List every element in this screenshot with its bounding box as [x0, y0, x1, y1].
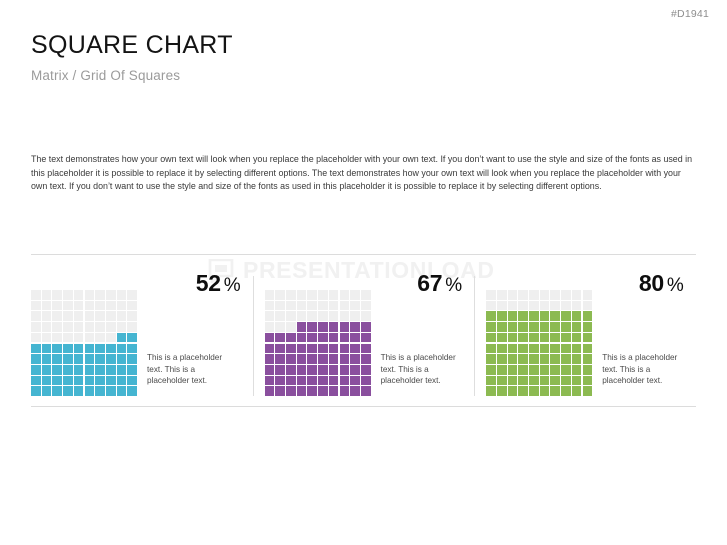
square-cell — [127, 344, 137, 354]
square-cell — [361, 386, 371, 396]
divider-top — [31, 254, 696, 255]
square-cell — [265, 344, 275, 354]
square-cell — [31, 322, 41, 332]
square-cell — [350, 290, 360, 300]
panel-text-column: 52% This is a placeholder text. This is … — [138, 276, 253, 396]
square-cell — [31, 290, 41, 300]
square-cell — [265, 311, 275, 321]
square-cell — [63, 365, 73, 375]
square-cell — [265, 301, 275, 311]
square-cell — [85, 354, 95, 364]
page-subtitle: Matrix / Grid Of Squares — [31, 68, 691, 83]
square-cell — [42, 290, 52, 300]
square-cell — [31, 333, 41, 343]
square-cell — [127, 333, 137, 343]
square-cell — [297, 333, 307, 343]
square-cell — [42, 322, 52, 332]
square-cell — [127, 354, 137, 364]
square-cell — [497, 301, 507, 311]
square-cell — [106, 376, 116, 386]
square-cell — [63, 344, 73, 354]
square-cell — [572, 344, 582, 354]
slide-header: SQUARE CHART Matrix / Grid Of Squares — [31, 32, 691, 83]
square-cell — [550, 386, 560, 396]
square-cell — [318, 354, 328, 364]
square-cell — [550, 311, 560, 321]
square-cell — [572, 322, 582, 332]
percentage-value: 80 — [639, 270, 664, 296]
square-cell — [42, 333, 52, 343]
square-cell — [297, 311, 307, 321]
square-cell — [265, 354, 275, 364]
square-cell — [286, 333, 296, 343]
square-cell — [508, 376, 518, 386]
square-chart-panel: 80% This is a placeholder text. This is … — [474, 276, 696, 396]
square-cell — [583, 365, 593, 375]
square-cell — [497, 333, 507, 343]
square-cell — [275, 290, 285, 300]
square-cell — [329, 386, 339, 396]
square-cell — [518, 354, 528, 364]
square-cell — [74, 365, 84, 375]
square-cell — [518, 365, 528, 375]
square-cell — [265, 322, 275, 332]
square-cell — [106, 386, 116, 396]
square-cell — [74, 376, 84, 386]
square-cell — [127, 301, 137, 311]
square-cell — [95, 376, 105, 386]
square-cell — [572, 365, 582, 375]
square-cell — [350, 344, 360, 354]
square-cell — [74, 290, 84, 300]
square-cell — [518, 301, 528, 311]
square-cell — [42, 344, 52, 354]
square-cell — [127, 322, 137, 332]
square-cell — [265, 290, 275, 300]
square-cell — [340, 354, 350, 364]
square-cell — [340, 365, 350, 375]
square-cell — [95, 344, 105, 354]
square-cell — [508, 344, 518, 354]
square-cell — [52, 322, 62, 332]
square-cell — [74, 354, 84, 364]
square-cell — [297, 386, 307, 396]
square-cell — [275, 301, 285, 311]
square-cell — [85, 386, 95, 396]
square-cell — [518, 333, 528, 343]
square-cell — [52, 365, 62, 375]
square-cell — [508, 301, 518, 311]
square-cell — [518, 290, 528, 300]
square-cell — [583, 376, 593, 386]
percentage-sign: % — [224, 275, 241, 296]
square-cell — [85, 344, 95, 354]
square-cell — [31, 365, 41, 375]
square-chart-panels: 52% This is a placeholder text. This is … — [31, 276, 696, 396]
square-cell — [350, 301, 360, 311]
square-cell — [486, 311, 496, 321]
square-cell — [95, 365, 105, 375]
square-cell — [106, 365, 116, 375]
square-cell — [329, 301, 339, 311]
square-cell — [361, 354, 371, 364]
panel-text-column: 80% This is a placeholder text. This is … — [593, 276, 696, 396]
square-cell — [329, 333, 339, 343]
square-cell — [106, 333, 116, 343]
square-cell — [117, 301, 127, 311]
square-cell — [117, 311, 127, 321]
square-cell — [63, 290, 73, 300]
square-cell — [561, 301, 571, 311]
square-cell — [572, 290, 582, 300]
square-cell — [497, 354, 507, 364]
square-cell — [52, 311, 62, 321]
square-cell — [361, 322, 371, 332]
square-cell — [508, 354, 518, 364]
square-cell — [52, 344, 62, 354]
square-grid[interactable] — [486, 290, 592, 396]
square-cell — [561, 322, 571, 332]
square-cell — [540, 354, 550, 364]
square-cell — [63, 386, 73, 396]
square-cell — [529, 386, 539, 396]
square-cell — [329, 311, 339, 321]
square-cell — [318, 386, 328, 396]
square-cell — [31, 354, 41, 364]
square-cell — [340, 322, 350, 332]
panel-note: This is a placeholder text. This is a pl… — [602, 352, 688, 387]
percentage-sign: % — [667, 275, 684, 296]
square-cell — [307, 344, 317, 354]
square-cell — [52, 376, 62, 386]
square-cell — [117, 290, 127, 300]
square-cell — [297, 344, 307, 354]
square-cell — [74, 344, 84, 354]
square-cell — [318, 290, 328, 300]
square-chart-panel: 52% This is a placeholder text. This is … — [31, 276, 253, 396]
square-cell — [307, 376, 317, 386]
square-cell — [318, 376, 328, 386]
square-cell — [42, 365, 52, 375]
square-cell — [561, 311, 571, 321]
square-cell — [340, 333, 350, 343]
square-cell — [286, 311, 296, 321]
square-cell — [275, 386, 285, 396]
square-cell — [583, 344, 593, 354]
square-cell — [318, 333, 328, 343]
square-cell — [486, 290, 496, 300]
square-cell — [361, 290, 371, 300]
square-cell — [486, 365, 496, 375]
square-grid[interactable] — [31, 290, 137, 396]
square-cell — [350, 376, 360, 386]
square-cell — [497, 311, 507, 321]
square-cell — [329, 365, 339, 375]
square-cell — [85, 290, 95, 300]
square-cell — [550, 365, 560, 375]
slide-id-label: #D1941 — [671, 8, 709, 20]
square-cell — [497, 344, 507, 354]
square-cell — [583, 386, 593, 396]
square-cell — [318, 322, 328, 332]
square-cell — [74, 333, 84, 343]
square-cell — [117, 386, 127, 396]
square-cell — [52, 354, 62, 364]
square-cell — [74, 386, 84, 396]
square-cell — [486, 333, 496, 343]
square-cell — [117, 333, 127, 343]
square-cell — [286, 301, 296, 311]
square-cell — [540, 301, 550, 311]
square-cell — [85, 365, 95, 375]
square-cell — [350, 311, 360, 321]
square-cell — [307, 301, 317, 311]
square-cell — [106, 322, 116, 332]
square-cell — [275, 354, 285, 364]
square-cell — [540, 365, 550, 375]
square-cell — [52, 301, 62, 311]
square-cell — [31, 301, 41, 311]
square-cell — [340, 311, 350, 321]
square-grid-wrap — [486, 276, 593, 396]
square-cell — [518, 322, 528, 332]
square-cell — [63, 354, 73, 364]
square-cell — [63, 376, 73, 386]
square-cell — [329, 344, 339, 354]
square-cell — [561, 386, 571, 396]
square-cell — [95, 333, 105, 343]
square-cell — [572, 354, 582, 364]
square-cell — [529, 311, 539, 321]
square-cell — [583, 333, 593, 343]
square-cell — [286, 290, 296, 300]
square-cell — [572, 386, 582, 396]
square-cell — [127, 311, 137, 321]
square-cell — [550, 344, 560, 354]
square-cell — [350, 333, 360, 343]
square-cell — [340, 376, 350, 386]
square-cell — [275, 376, 285, 386]
square-cell — [307, 290, 317, 300]
square-cell — [31, 376, 41, 386]
square-cell — [529, 290, 539, 300]
square-cell — [31, 386, 41, 396]
square-cell — [117, 322, 127, 332]
square-chart-panel: 67% This is a placeholder text. This is … — [253, 276, 475, 396]
square-cell — [572, 376, 582, 386]
square-cell — [52, 333, 62, 343]
square-cell — [74, 322, 84, 332]
square-cell — [561, 333, 571, 343]
square-cell — [583, 301, 593, 311]
square-cell — [340, 290, 350, 300]
square-cell — [572, 311, 582, 321]
square-cell — [529, 333, 539, 343]
page-title: SQUARE CHART — [31, 32, 691, 58]
square-cell — [286, 344, 296, 354]
square-cell — [74, 311, 84, 321]
square-cell — [297, 301, 307, 311]
square-cell — [550, 354, 560, 364]
square-cell — [52, 290, 62, 300]
square-cell — [127, 365, 137, 375]
square-cell — [561, 376, 571, 386]
square-cell — [529, 354, 539, 364]
square-cell — [508, 311, 518, 321]
square-cell — [95, 290, 105, 300]
square-cell — [297, 354, 307, 364]
panel-text-column: 67% This is a placeholder text. This is … — [372, 276, 475, 396]
square-cell — [85, 322, 95, 332]
square-cell — [572, 301, 582, 311]
square-cell — [307, 354, 317, 364]
square-cell — [583, 311, 593, 321]
square-cell — [329, 322, 339, 332]
square-cell — [486, 344, 496, 354]
square-cell — [561, 290, 571, 300]
square-cell — [117, 365, 127, 375]
square-cell — [518, 386, 528, 396]
percentage-value: 67 — [417, 270, 442, 296]
square-cell — [340, 344, 350, 354]
square-cell — [117, 354, 127, 364]
square-cell — [63, 333, 73, 343]
square-cell — [31, 311, 41, 321]
square-cell — [318, 365, 328, 375]
square-cell — [95, 322, 105, 332]
percentage-readout: 67% — [417, 272, 462, 295]
percentage-readout: 52% — [196, 272, 241, 295]
square-cell — [63, 311, 73, 321]
square-cell — [106, 311, 116, 321]
square-grid[interactable] — [265, 290, 371, 396]
square-cell — [265, 376, 275, 386]
square-cell — [286, 354, 296, 364]
square-cell — [297, 290, 307, 300]
square-cell — [74, 301, 84, 311]
square-cell — [127, 386, 137, 396]
square-cell — [127, 290, 137, 300]
square-cell — [318, 344, 328, 354]
square-cell — [117, 376, 127, 386]
square-cell — [497, 322, 507, 332]
square-cell — [42, 354, 52, 364]
square-cell — [318, 301, 328, 311]
square-cell — [275, 333, 285, 343]
square-cell — [550, 376, 560, 386]
percentage-readout: 80% — [639, 272, 684, 295]
square-cell — [95, 311, 105, 321]
square-cell — [42, 311, 52, 321]
square-cell — [486, 322, 496, 332]
square-cell — [265, 333, 275, 343]
square-cell — [486, 376, 496, 386]
square-cell — [63, 322, 73, 332]
panel-note: This is a placeholder text. This is a pl… — [147, 352, 233, 387]
square-cell — [42, 386, 52, 396]
square-cell — [361, 333, 371, 343]
square-cell — [529, 365, 539, 375]
square-cell — [265, 386, 275, 396]
square-cell — [361, 301, 371, 311]
square-cell — [540, 386, 550, 396]
square-cell — [297, 322, 307, 332]
square-cell — [540, 333, 550, 343]
square-cell — [329, 376, 339, 386]
square-cell — [583, 322, 593, 332]
square-cell — [561, 354, 571, 364]
square-cell — [318, 311, 328, 321]
square-cell — [550, 290, 560, 300]
square-cell — [117, 344, 127, 354]
panel-note: This is a placeholder text. This is a pl… — [381, 352, 467, 387]
square-cell — [583, 354, 593, 364]
square-cell — [265, 365, 275, 375]
square-cell — [127, 376, 137, 386]
square-cell — [561, 365, 571, 375]
square-cell — [106, 344, 116, 354]
divider-bottom — [31, 406, 696, 407]
square-cell — [286, 322, 296, 332]
square-cell — [529, 322, 539, 332]
square-cell — [275, 322, 285, 332]
square-cell — [286, 365, 296, 375]
square-cell — [307, 311, 317, 321]
square-cell — [508, 386, 518, 396]
square-cell — [350, 365, 360, 375]
square-cell — [540, 290, 550, 300]
square-cell — [275, 365, 285, 375]
square-cell — [518, 376, 528, 386]
square-cell — [508, 365, 518, 375]
square-cell — [31, 344, 41, 354]
square-cell — [42, 301, 52, 311]
square-cell — [529, 344, 539, 354]
square-cell — [497, 365, 507, 375]
square-cell — [518, 311, 528, 321]
square-cell — [85, 311, 95, 321]
square-cell — [350, 354, 360, 364]
square-cell — [95, 301, 105, 311]
square-cell — [497, 290, 507, 300]
square-cell — [307, 365, 317, 375]
square-cell — [508, 290, 518, 300]
square-cell — [95, 354, 105, 364]
square-cell — [486, 301, 496, 311]
square-cell — [550, 322, 560, 332]
square-cell — [350, 322, 360, 332]
square-cell — [486, 354, 496, 364]
square-cell — [486, 386, 496, 396]
square-cell — [572, 333, 582, 343]
square-grid-wrap — [265, 276, 372, 396]
square-cell — [307, 333, 317, 343]
square-cell — [106, 290, 116, 300]
square-cell — [529, 301, 539, 311]
square-cell — [540, 344, 550, 354]
square-cell — [540, 322, 550, 332]
square-cell — [361, 376, 371, 386]
square-cell — [497, 386, 507, 396]
square-cell — [540, 376, 550, 386]
square-cell — [508, 333, 518, 343]
square-cell — [340, 301, 350, 311]
square-cell — [583, 290, 593, 300]
square-cell — [497, 376, 507, 386]
square-cell — [518, 344, 528, 354]
square-cell — [52, 386, 62, 396]
square-cell — [550, 333, 560, 343]
